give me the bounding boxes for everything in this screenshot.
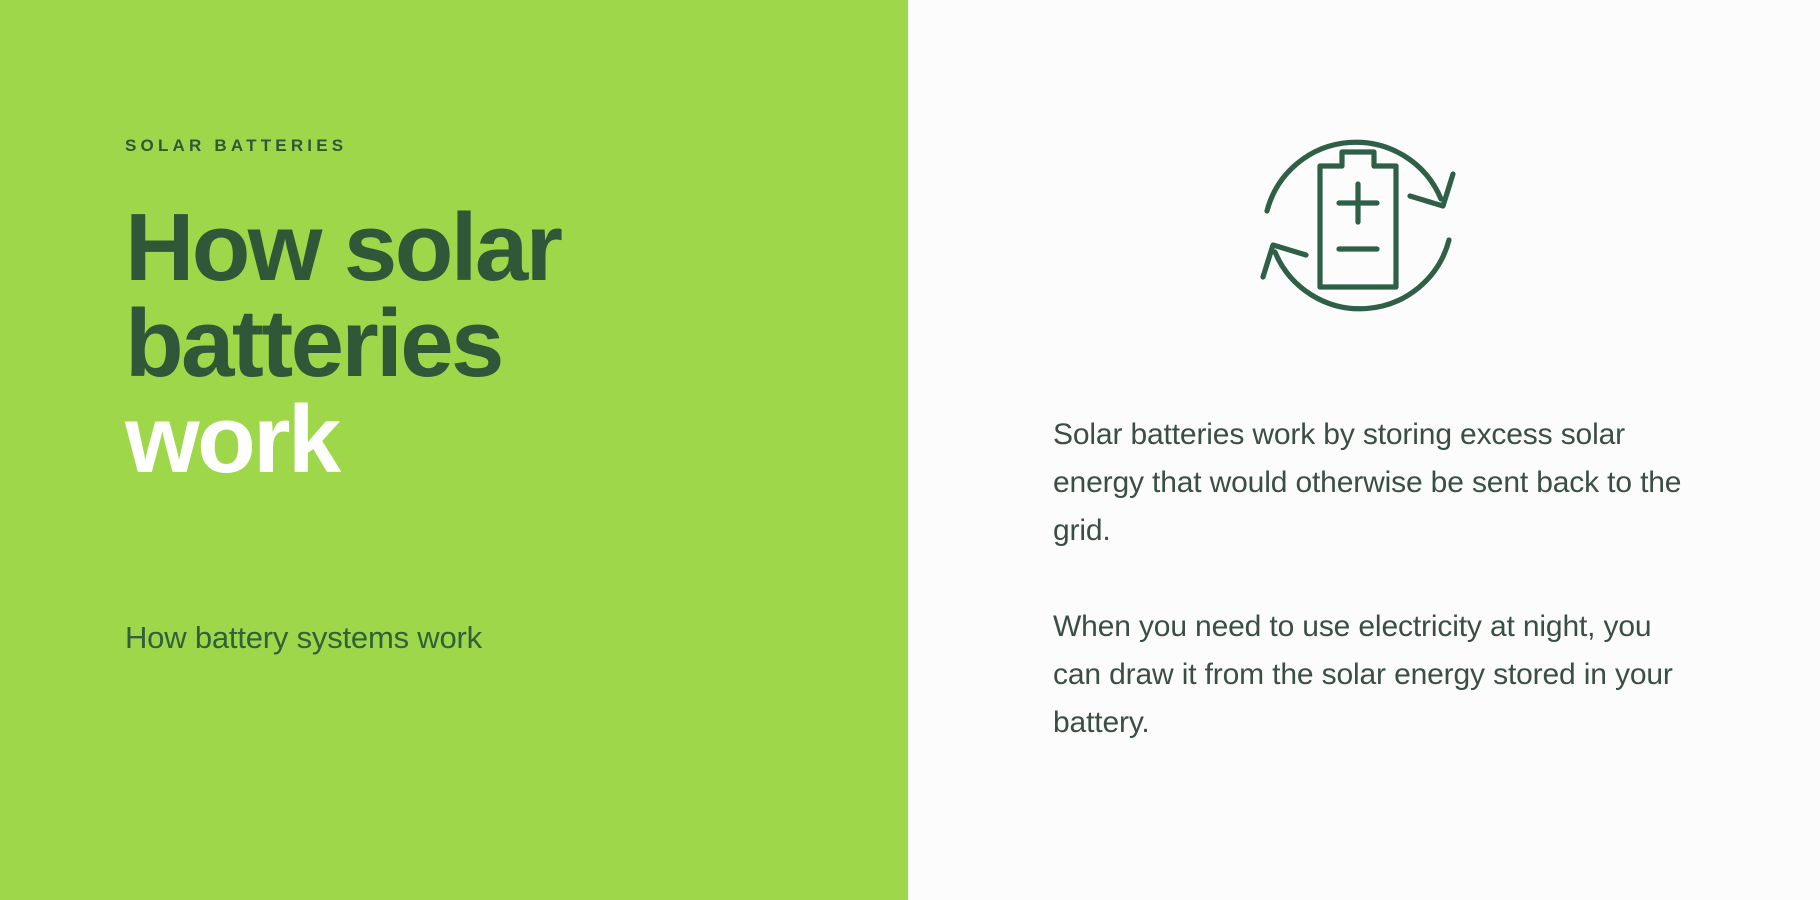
subtitle: How battery systems work (125, 619, 848, 658)
headline-line-3-accent: work (125, 392, 848, 488)
headline-line-2: batteries (125, 296, 848, 392)
body-paragraph-2: When you need to use electricity at nigh… (1053, 603, 1700, 747)
headline-line-1: How solar (125, 200, 848, 296)
body-paragraph-1: Solar batteries work by storing excess s… (1053, 411, 1700, 555)
right-content-panel: Solar batteries work by storing excess s… (908, 0, 1820, 900)
body-copy: Solar batteries work by storing excess s… (1053, 411, 1700, 747)
battery-recycle-icon (1245, 118, 1471, 333)
battery-plus-symbol (1339, 184, 1377, 222)
left-green-panel: SOLAR BATTERIES How solar batteries work… (0, 0, 908, 900)
slide: SOLAR BATTERIES How solar batteries work… (0, 0, 1820, 900)
page-title: How solar batteries work (125, 200, 848, 488)
eyebrow-label: SOLAR BATTERIES (125, 136, 848, 156)
